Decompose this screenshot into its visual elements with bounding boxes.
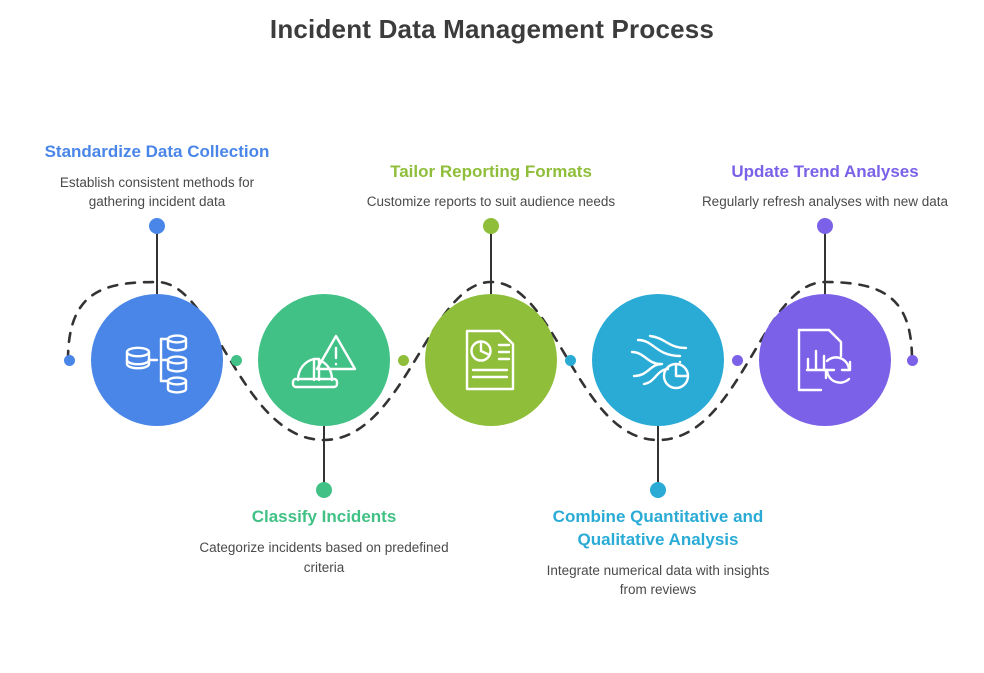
step-label-update-trend-analyses: Update Trend AnalysesRegularly refresh a…: [700, 0, 950, 218]
document-bars-refresh-icon: [789, 324, 861, 396]
infographic-canvas: Incident Data Management Process: [0, 0, 984, 673]
step-heading-classify-incidents: Classify Incidents: [199, 506, 449, 529]
step-description-standardize-data-collection: Establish consistent methods for gatheri…: [32, 173, 282, 212]
step-heading-tailor-reporting-formats: Tailor Reporting Formats: [366, 161, 616, 184]
step-label-combine-quantitative-and-qualitative-analysis: Combine Quantitative and Qualitative Ana…: [533, 506, 783, 600]
step-leader-dot-tailor-reporting-formats: [483, 218, 499, 234]
path-node-dot-classify-incidents: [231, 355, 242, 366]
step-leader-dot-classify-incidents: [316, 482, 332, 498]
step-heading-combine-quantitative-and-qualitative-analysis: Combine Quantitative and Qualitative Ana…: [533, 506, 783, 552]
step-leader-dot-update-trend-analyses: [817, 218, 833, 234]
path-node-dot-combine-quantitative-and-qualitative-analysis: [565, 355, 576, 366]
report-pie-document-icon: [455, 324, 527, 396]
database-branch-icon: [121, 324, 193, 396]
step-leader-dot-combine-quantitative-and-qualitative-analysis: [650, 482, 666, 498]
step-leader-line-update-trend-analyses: [824, 224, 826, 294]
step-leader-line-standardize-data-collection: [156, 224, 158, 294]
step-description-combine-quantitative-and-qualitative-analysis: Integrate numerical data with insights f…: [533, 561, 783, 600]
step-description-update-trend-analyses: Regularly refresh analyses with new data: [700, 192, 950, 212]
step-description-tailor-reporting-formats: Customize reports to suit audience needs: [366, 192, 616, 212]
step-label-classify-incidents: Classify IncidentsCategorize incidents b…: [199, 506, 449, 577]
step-circle-tailor-reporting-formats[interactable]: [425, 294, 557, 426]
step-heading-standardize-data-collection: Standardize Data Collection: [32, 141, 282, 164]
path-node-dot-standardize-data-collection: [64, 355, 75, 366]
data-streams-pie-icon: [622, 324, 694, 396]
step-label-standardize-data-collection: Standardize Data CollectionEstablish con…: [32, 0, 282, 218]
path-node-dot-update-trend-analyses-end: [907, 355, 918, 366]
path-node-dot-update-trend-analyses: [732, 355, 743, 366]
step-circle-combine-quantitative-and-qualitative-analysis[interactable]: [592, 294, 724, 426]
step-leader-dot-standardize-data-collection: [149, 218, 165, 234]
step-leader-line-tailor-reporting-formats: [490, 224, 492, 294]
path-node-dot-tailor-reporting-formats: [398, 355, 409, 366]
step-circle-standardize-data-collection[interactable]: [91, 294, 223, 426]
step-label-tailor-reporting-formats: Tailor Reporting FormatsCustomize report…: [366, 0, 616, 218]
step-circle-update-trend-analyses[interactable]: [759, 294, 891, 426]
step-heading-update-trend-analyses: Update Trend Analyses: [700, 161, 950, 184]
step-description-classify-incidents: Categorize incidents based on predefined…: [199, 538, 449, 577]
step-circle-classify-incidents[interactable]: [258, 294, 390, 426]
hardhat-warning-icon: [288, 324, 360, 396]
